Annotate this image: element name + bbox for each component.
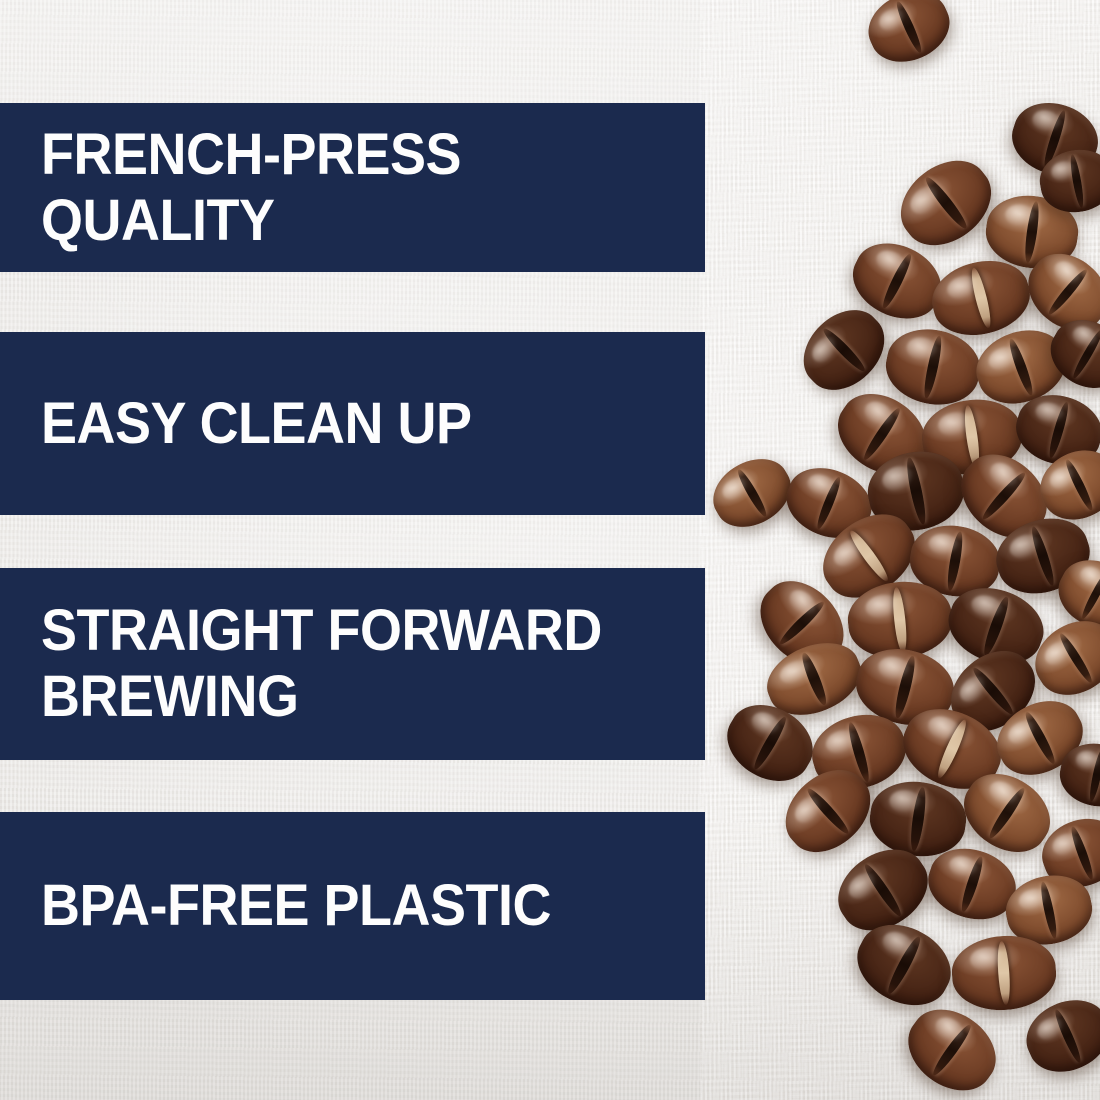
feature-text-line: EASY CLEAN UP (41, 391, 640, 457)
product-feature-graphic: FRENCH-PRESS QUALITY EASY CLEAN UP STRAI… (0, 0, 1100, 1100)
feature-banner-straight-forward-brewing: STRAIGHT FORWARD BREWING (0, 568, 705, 760)
feature-text-line: BPA-FREE PLASTIC (41, 873, 640, 939)
feature-text-line: FRENCH-PRESS (41, 122, 640, 188)
feature-banner-bpa-free-plastic: BPA-FREE PLASTIC (0, 812, 705, 1000)
feature-text-line: QUALITY (41, 188, 640, 254)
feature-banner-french-press-quality: FRENCH-PRESS QUALITY (0, 103, 705, 272)
feature-text-line: BREWING (41, 664, 640, 730)
feature-banner-easy-clean-up: EASY CLEAN UP (0, 332, 705, 515)
feature-text-line: STRAIGHT FORWARD (41, 598, 640, 664)
